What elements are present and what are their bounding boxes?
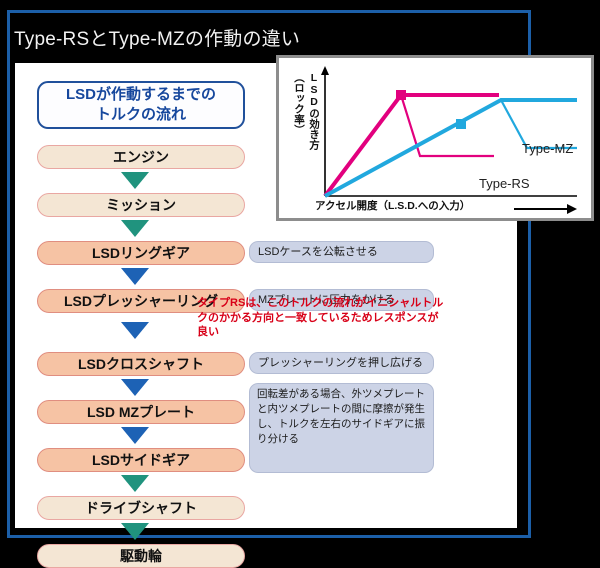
series-type-mz-knee-marker (456, 119, 466, 129)
screenshot-root: Type-RSとType-MZの作動の違い LSDが作動するまでの トルクの流れ… (0, 0, 600, 554)
chart-y-axis-label-main: LSDの効き方 (307, 72, 322, 192)
flow-arrow-7 (121, 475, 149, 492)
flow-arrow-4 (121, 322, 149, 339)
flow-arrow-6 (121, 427, 149, 444)
chart-x-direction-arrow (567, 204, 577, 214)
flow-node-engine[interactable]: エンジン (37, 145, 245, 169)
flowchart-header-text: LSDが作動するまでの トルクの流れ (66, 85, 216, 125)
chart-series-label-type-rs: Type-RS (479, 176, 530, 191)
flowchart-header-box: LSDが作動するまでの トルクの流れ (37, 81, 245, 129)
flowchart-header-line1: LSDが作動するまでの (66, 86, 216, 103)
chart-x-axis-label: アクセル開度（L.S.D.への入力） (315, 198, 470, 213)
flow-arrow-5 (121, 379, 149, 396)
flow-node-mission[interactable]: ミッション (37, 193, 245, 217)
flowchart-header-line2: トルクの流れ (96, 106, 186, 123)
chart-panel: LSDの効き方 （ロック率） アクセル開度（L.S.D.への入力） Type-R… (276, 55, 594, 221)
flow-arrow-1 (121, 172, 149, 189)
title-bar: Type-RSとType-MZの作動の違い (14, 18, 526, 56)
flow-node-lsd-ring-gear[interactable]: LSDリングギア (37, 241, 245, 265)
flow-node-lsd-cross-shaft[interactable]: LSDクロスシャフト (37, 352, 245, 376)
flow-arrow-3 (121, 268, 149, 285)
page-title: Type-RSとType-MZの作動の違い (14, 24, 300, 51)
flow-arrow-2 (121, 220, 149, 237)
series-type-rs-knee-marker (396, 90, 406, 100)
flow-node-lsd-mz-plate[interactable]: LSD MZプレート (37, 400, 245, 424)
chart-series-label-type-mz: Type-MZ (522, 141, 573, 156)
lsd-lock-chart (279, 58, 591, 218)
flow-node-lsd-pressure-ring[interactable]: LSDプレッシャーリング (37, 289, 245, 313)
flow-node-lsd-side-gear[interactable]: LSDサイドギア (37, 448, 245, 472)
flow-node-drive-wheel[interactable]: 駆動輪 (37, 544, 245, 568)
chart-y-axis-arrow (321, 66, 329, 75)
flow-node-drive-shaft[interactable]: ドライブシャフト (37, 496, 245, 520)
chart-y-axis-label: LSDの効き方 （ロック率） (288, 72, 322, 192)
chart-inner: LSDの効き方 （ロック率） アクセル開度（L.S.D.への入力） Type-R… (279, 58, 591, 218)
chart-y-axis-label-paren: （ロック率） (292, 72, 307, 192)
